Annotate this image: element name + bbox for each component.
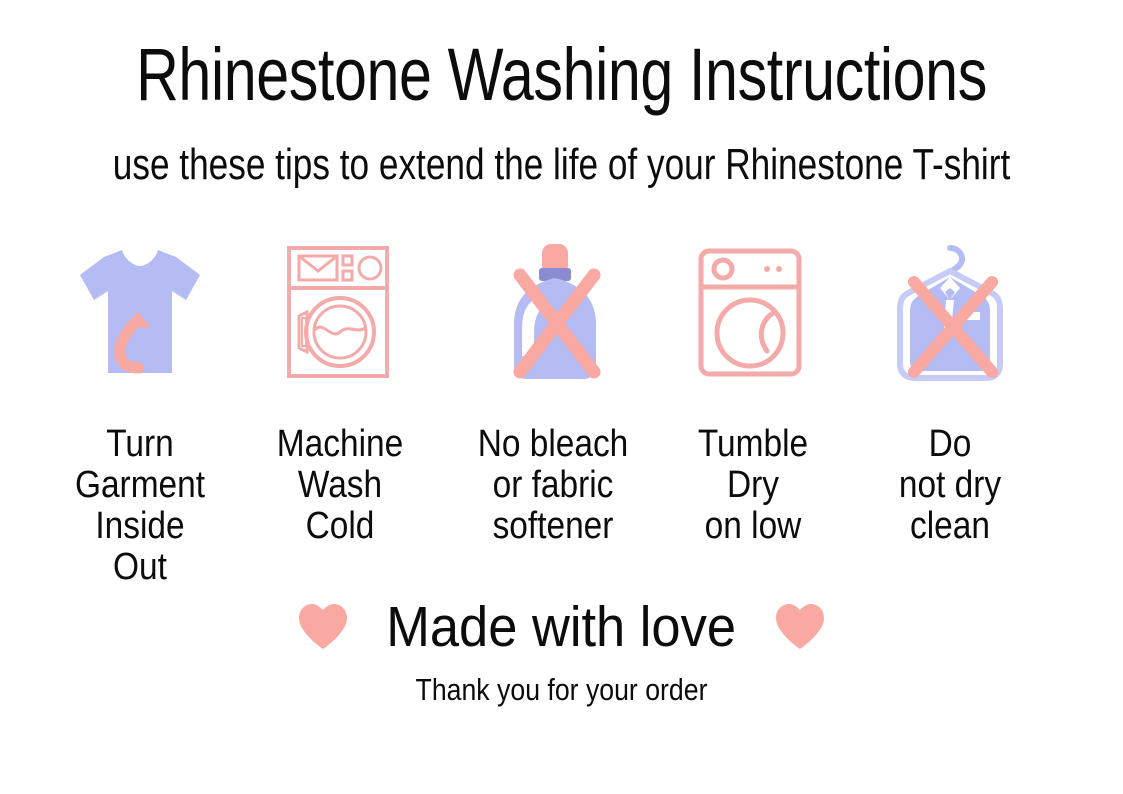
instruction-caption-3: No bleach or fabric softener	[452, 424, 654, 547]
made-with-love-row: Made with love	[0, 594, 1123, 660]
made-with-love-text: Made with love	[387, 594, 737, 660]
caption-line: No bleach	[452, 424, 654, 465]
caption-line: Do	[849, 424, 1051, 465]
caption-line: softener	[452, 506, 654, 547]
no-dry-clean-icon	[888, 240, 1013, 385]
tshirt-inside-out-icon	[76, 242, 204, 382]
heart-icon	[297, 603, 349, 651]
instruction-caption-2: Machine Wash Cold	[239, 424, 441, 547]
caption-line: Dry	[652, 465, 854, 506]
instruction-icon-cell-5	[865, 232, 1035, 392]
no-bleach-bottle-icon	[500, 240, 610, 385]
washing-instructions-card: Rhinestone Washing Instructions use thes…	[0, 0, 1123, 794]
instruction-caption-4: Tumble Dry on low	[652, 424, 854, 547]
caption-line: not dry	[849, 465, 1051, 506]
instruction-caption-row: Turn Garment Inside Out Machine Wash Col…	[0, 424, 1123, 594]
page-subtitle: use these tips to extend the life of you…	[112, 143, 1010, 187]
page-title: Rhinestone Washing Instructions	[112, 38, 1010, 112]
caption-line: Wash	[239, 465, 441, 506]
instruction-caption-1: Turn Garment Inside Out	[39, 424, 241, 588]
caption-line: clean	[849, 506, 1051, 547]
thank-you-text: Thank you for your order	[79, 672, 1045, 708]
caption-line: Inside	[39, 506, 241, 547]
instruction-icon-cell-2	[253, 232, 423, 392]
instruction-icon-cell-3	[470, 232, 640, 392]
instruction-icon-row	[0, 232, 1123, 392]
caption-line: Out	[39, 547, 241, 588]
instruction-caption-5: Do not dry clean	[849, 424, 1051, 547]
caption-line: Garment	[39, 465, 241, 506]
caption-line: or fabric	[452, 465, 654, 506]
caption-line: Machine	[239, 424, 441, 465]
instruction-icon-cell-1	[55, 232, 225, 392]
caption-line: Turn	[39, 424, 241, 465]
caption-line: on low	[652, 506, 854, 547]
washing-machine-icon	[283, 242, 393, 382]
caption-line: Cold	[239, 506, 441, 547]
tumble-dryer-icon	[695, 245, 805, 380]
instruction-icon-cell-4	[665, 232, 835, 392]
heart-icon	[774, 603, 826, 651]
caption-line: Tumble	[652, 424, 854, 465]
